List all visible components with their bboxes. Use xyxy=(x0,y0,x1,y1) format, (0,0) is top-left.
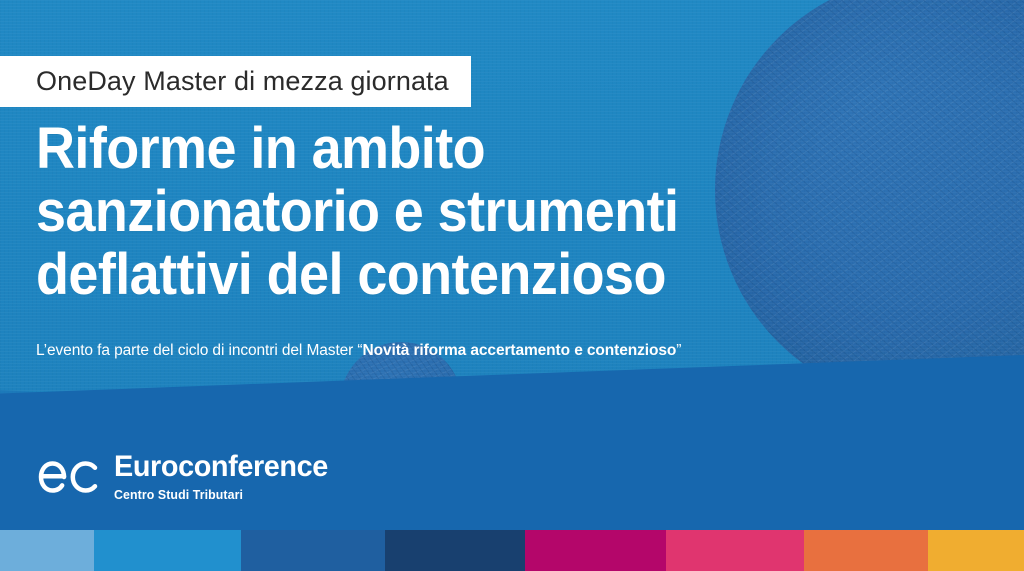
brand-logo: Euroconference Centro Studi Tributari xyxy=(36,452,337,501)
title-line-2: sanzionatorio e strumenti xyxy=(36,181,678,244)
logo-tagline: Centro Studi Tributari xyxy=(114,488,326,501)
stripe-blue xyxy=(94,530,241,571)
stripe-magenta xyxy=(525,530,666,571)
color-stripe-bar xyxy=(0,530,1024,571)
stripe-orange xyxy=(804,530,928,571)
subtitle-prefix: L’evento fa parte del ciclo di incontri … xyxy=(36,342,363,359)
kicker-banner: OneDay Master di mezza giornata xyxy=(0,56,471,107)
title-line-3: deflattivi del contenzioso xyxy=(36,244,678,307)
stripe-pink xyxy=(666,530,804,571)
title-line-1: Riforme in ambito xyxy=(36,118,678,181)
ec-monogram-icon xyxy=(36,454,102,500)
kicker-label: OneDay Master di mezza giornata xyxy=(36,68,449,95)
page-title: Riforme in ambito sanzionatorio e strume… xyxy=(36,118,678,307)
stripe-mid-blue xyxy=(241,530,385,571)
subtitle: L’evento fa parte del ciclo di incontri … xyxy=(36,342,681,361)
logo-wordmark: Euroconference Centro Studi Tributari xyxy=(114,452,337,501)
subtitle-emphasis: Novità riforma accertamento e contenzios… xyxy=(363,342,677,359)
logo-name: Euroconference xyxy=(114,452,328,482)
stripe-light-blue xyxy=(0,530,94,571)
promo-banner: OneDay Master di mezza giornata Riforme … xyxy=(0,0,1024,571)
stripe-amber xyxy=(928,530,1024,571)
subtitle-suffix: ” xyxy=(676,342,681,359)
stripe-navy xyxy=(385,530,525,571)
